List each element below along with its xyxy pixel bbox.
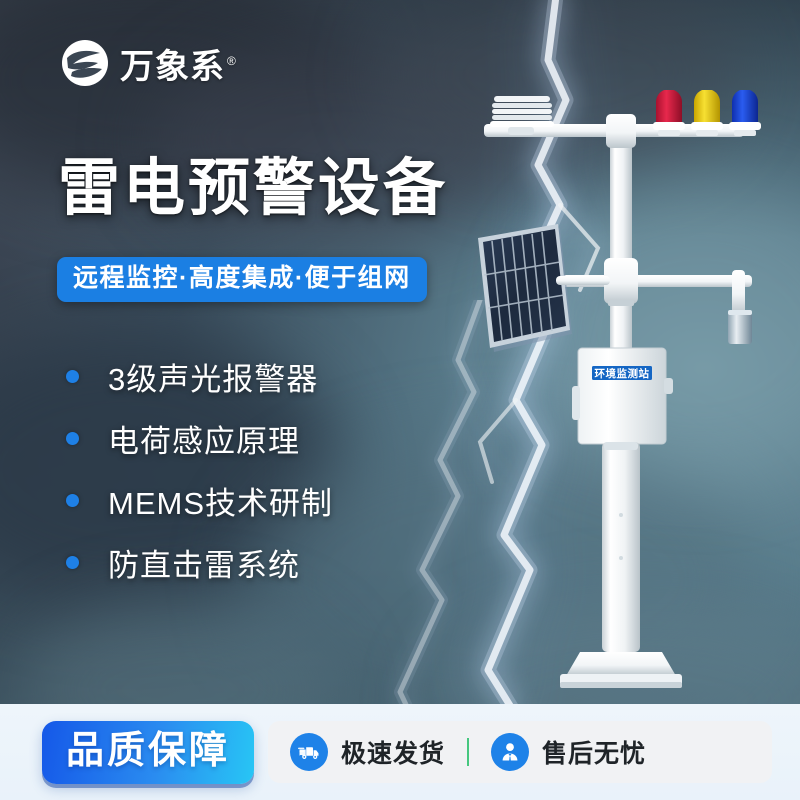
- support-agent-icon: [491, 733, 529, 771]
- feature-label: 电荷感应原理: [108, 416, 300, 461]
- feature-list: 3级声光报警器 电荷感应原理 MEMS技术研制 防直击雷系统: [66, 345, 333, 593]
- service-item-aftersales: 售后无忧: [469, 733, 668, 771]
- page-title: 雷电预警设备: [58, 158, 448, 220]
- quality-badge: 品质保障: [42, 721, 254, 784]
- yellow-alarm-beacon: [691, 90, 723, 136]
- footer-bar: 品质保障 极速发货: [0, 704, 800, 800]
- panel-mount-arm: [556, 276, 610, 285]
- brand-logo: 万象系®: [60, 38, 237, 88]
- joint-collar: [608, 300, 634, 306]
- service-label: 极速发货: [341, 734, 445, 770]
- sensor-cap: [728, 310, 752, 315]
- arm-clamp: [606, 114, 636, 148]
- alarm-beacon-stack: [653, 90, 761, 136]
- bullet-dot-icon: [66, 370, 79, 383]
- list-item: 电荷感应原理: [66, 407, 333, 469]
- solar-panel: [478, 224, 610, 352]
- feature-label: 3级声光报警器: [108, 354, 318, 399]
- control-box: 环境监测站: [572, 348, 673, 444]
- delivery-truck-icon: [290, 733, 328, 771]
- product-poster: 万象系® 雷电预警设备 远程监控·高度集成·便于组网 3级声光报警器 电荷感应原…: [0, 0, 800, 800]
- mast-bolt: [619, 513, 623, 517]
- bullet-dot-icon: [66, 556, 79, 569]
- list-item: 3级声光报警器: [66, 345, 333, 407]
- list-item: MEMS技术研制: [66, 469, 333, 531]
- service-list: 极速发货 售后无忧: [268, 721, 772, 783]
- weather-station-product: 环境监测站: [460, 90, 800, 700]
- mast-collar: [604, 442, 638, 450]
- bullet-dot-icon: [66, 494, 79, 507]
- blue-alarm-beacon: [729, 90, 761, 136]
- box-hinge: [572, 386, 580, 420]
- lower-mast: [602, 442, 640, 652]
- subtitle-badge: 远程监控·高度集成·便于组网: [57, 257, 427, 302]
- mast-bolt: [619, 556, 623, 560]
- circular-swoosh-logo-icon: [60, 38, 110, 88]
- sensor-drop-arm: [732, 270, 745, 314]
- service-separator: [467, 738, 469, 766]
- feature-label: 防直击雷系统: [108, 540, 300, 585]
- box-latch: [664, 378, 673, 394]
- quality-badge-label: 品质保障: [66, 730, 230, 772]
- red-alarm-beacon: [653, 90, 685, 136]
- registered-mark: ®: [227, 54, 237, 68]
- device-label-text: 环境监测站: [595, 367, 650, 380]
- electric-field-sensor: [728, 310, 752, 344]
- feature-label: MEMS技术研制: [108, 478, 333, 523]
- list-item: 防直击雷系统: [66, 531, 333, 593]
- brand-name: 万象系: [120, 48, 225, 86]
- service-item-shipping: 极速发货: [268, 733, 467, 771]
- brand-name-wrap: 万象系®: [120, 39, 237, 88]
- base-plate: [560, 652, 682, 688]
- service-label: 售后无忧: [542, 734, 646, 770]
- subtitle-text: 远程监控·高度集成·便于组网: [73, 264, 411, 292]
- bullet-dot-icon: [66, 432, 79, 445]
